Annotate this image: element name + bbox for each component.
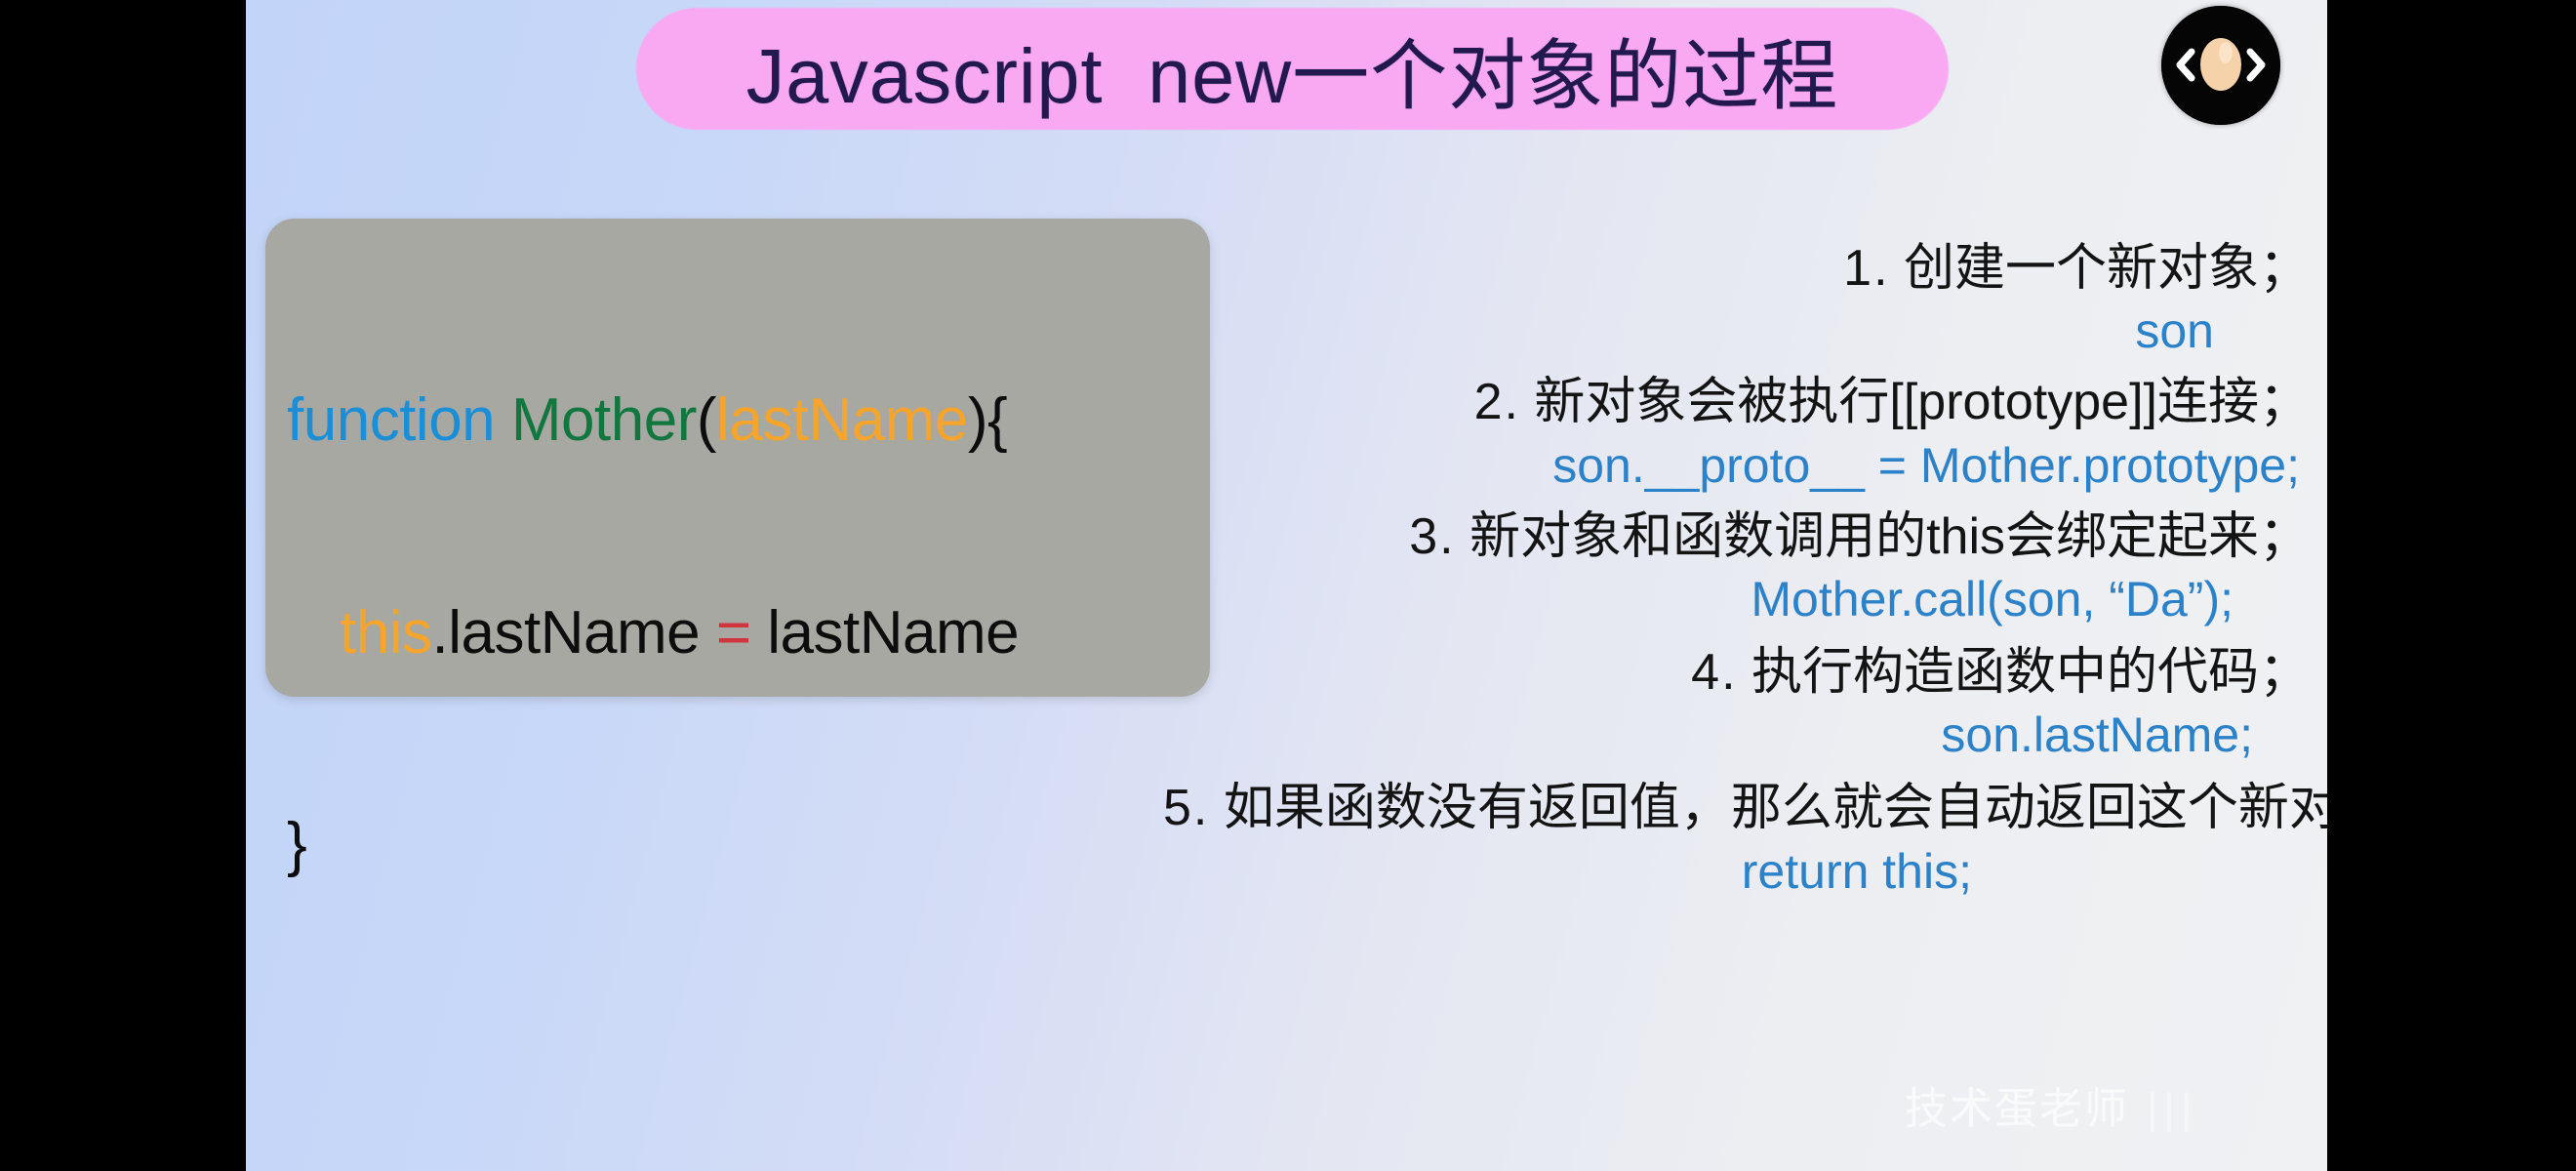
slide-title: Javascript new一个对象的过程 xyxy=(636,8,1949,130)
step-2-number: 2. xyxy=(1474,374,1520,430)
token-param-lastname: lastName xyxy=(716,386,968,454)
step-1-code: son xyxy=(1163,299,2310,363)
egg-code-logo-icon xyxy=(2161,6,2280,125)
step-item-5: 5. 如果函数没有返回值，那么就会自动返回这个新对象。 return this; xyxy=(1163,779,2310,903)
step-1-text: 创建一个新对象； xyxy=(1890,240,2310,297)
channel-watermark: 技术蛋老师||| xyxy=(1905,1073,2197,1136)
step-item-3: 3. 新对象和函数调用的this会绑定起来； Mother.call(son, … xyxy=(1163,507,2310,631)
step-5-description: 5. 如果函数没有返回值，那么就会自动返回这个新对象。 xyxy=(1163,779,2315,838)
step-item-1: 1. 创建一个新对象； son xyxy=(1163,239,2310,363)
step-5-number: 5. xyxy=(1163,780,1209,836)
code-line-4-blank xyxy=(287,1023,1194,1094)
token-value-lastname: lastName xyxy=(751,599,1020,666)
step-2-description: 2. 新对象会被执行[[prototype]]连接； xyxy=(1163,373,2310,432)
watermark-bars: ||| xyxy=(2147,1085,2197,1134)
step-5-text: 如果函数没有返回值，那么就会自动返回这个新对象。 xyxy=(1209,780,2327,836)
step-1-number: 1. xyxy=(1843,240,1889,297)
title-text: Javascript new一个对象的过程 xyxy=(636,8,1949,130)
step-3-text: 新对象和函数调用的this会绑定起来； xyxy=(1456,508,2310,565)
step-4-description: 4. 执行构造函数中的代码； xyxy=(1163,643,2310,703)
new-operator-steps-list: 1. 创建一个新对象； son 2. 新对象会被执行[[prototype]]连… xyxy=(1163,239,2310,908)
token-prop-lastname: .lastName xyxy=(431,599,715,666)
token-this: this xyxy=(340,599,431,666)
video-letterbox-stage: Javascript new一个对象的过程 function Mother(la… xyxy=(0,0,2576,1171)
step-2-code: son.__proto__ = Mother.prototype; xyxy=(1163,433,2310,498)
step-item-4: 4. 执行构造函数中的代码； son.lastName; xyxy=(1163,643,2310,767)
code-line-2: this.lastName = lastName xyxy=(287,598,1194,669)
step-4-number: 4. xyxy=(1691,644,1737,701)
token-paren-open: ( xyxy=(697,386,716,454)
token-brace-close: } xyxy=(287,811,306,878)
code-line-1: function Mother(lastName){ xyxy=(287,385,1194,457)
code-line-3: } xyxy=(287,810,1194,881)
slide-canvas: Javascript new一个对象的过程 function Mother(la… xyxy=(246,0,2327,1171)
code-snippet-card: function Mother(lastName){ this.lastName… xyxy=(265,219,1210,697)
token-mother: Mother xyxy=(511,386,697,454)
step-3-number: 3. xyxy=(1409,508,1455,565)
token-paren-brace: ){ xyxy=(968,386,1007,454)
token-assign: = xyxy=(716,599,751,666)
token-function: function xyxy=(287,386,511,454)
code-snippet-text: function Mother(lastName){ this.lastName… xyxy=(287,244,1194,1171)
step-item-2: 2. 新对象会被执行[[prototype]]连接； son.__proto__… xyxy=(1163,373,2310,497)
step-4-code: son.lastName; xyxy=(1163,703,2310,767)
step-3-description: 3. 新对象和函数调用的this会绑定起来； xyxy=(1163,507,2310,567)
step-3-code: Mother.call(son, “Da”); xyxy=(1163,567,2310,631)
step-1-description: 1. 创建一个新对象； xyxy=(1163,239,2310,299)
step-5-code: return this; xyxy=(1163,839,2310,904)
watermark-text: 技术蛋老师 xyxy=(1905,1085,2129,1133)
step-4-text: 执行构造函数中的代码； xyxy=(1738,644,2310,701)
step-2-text: 新对象会被执行[[prototype]]连接； xyxy=(1520,374,2310,430)
